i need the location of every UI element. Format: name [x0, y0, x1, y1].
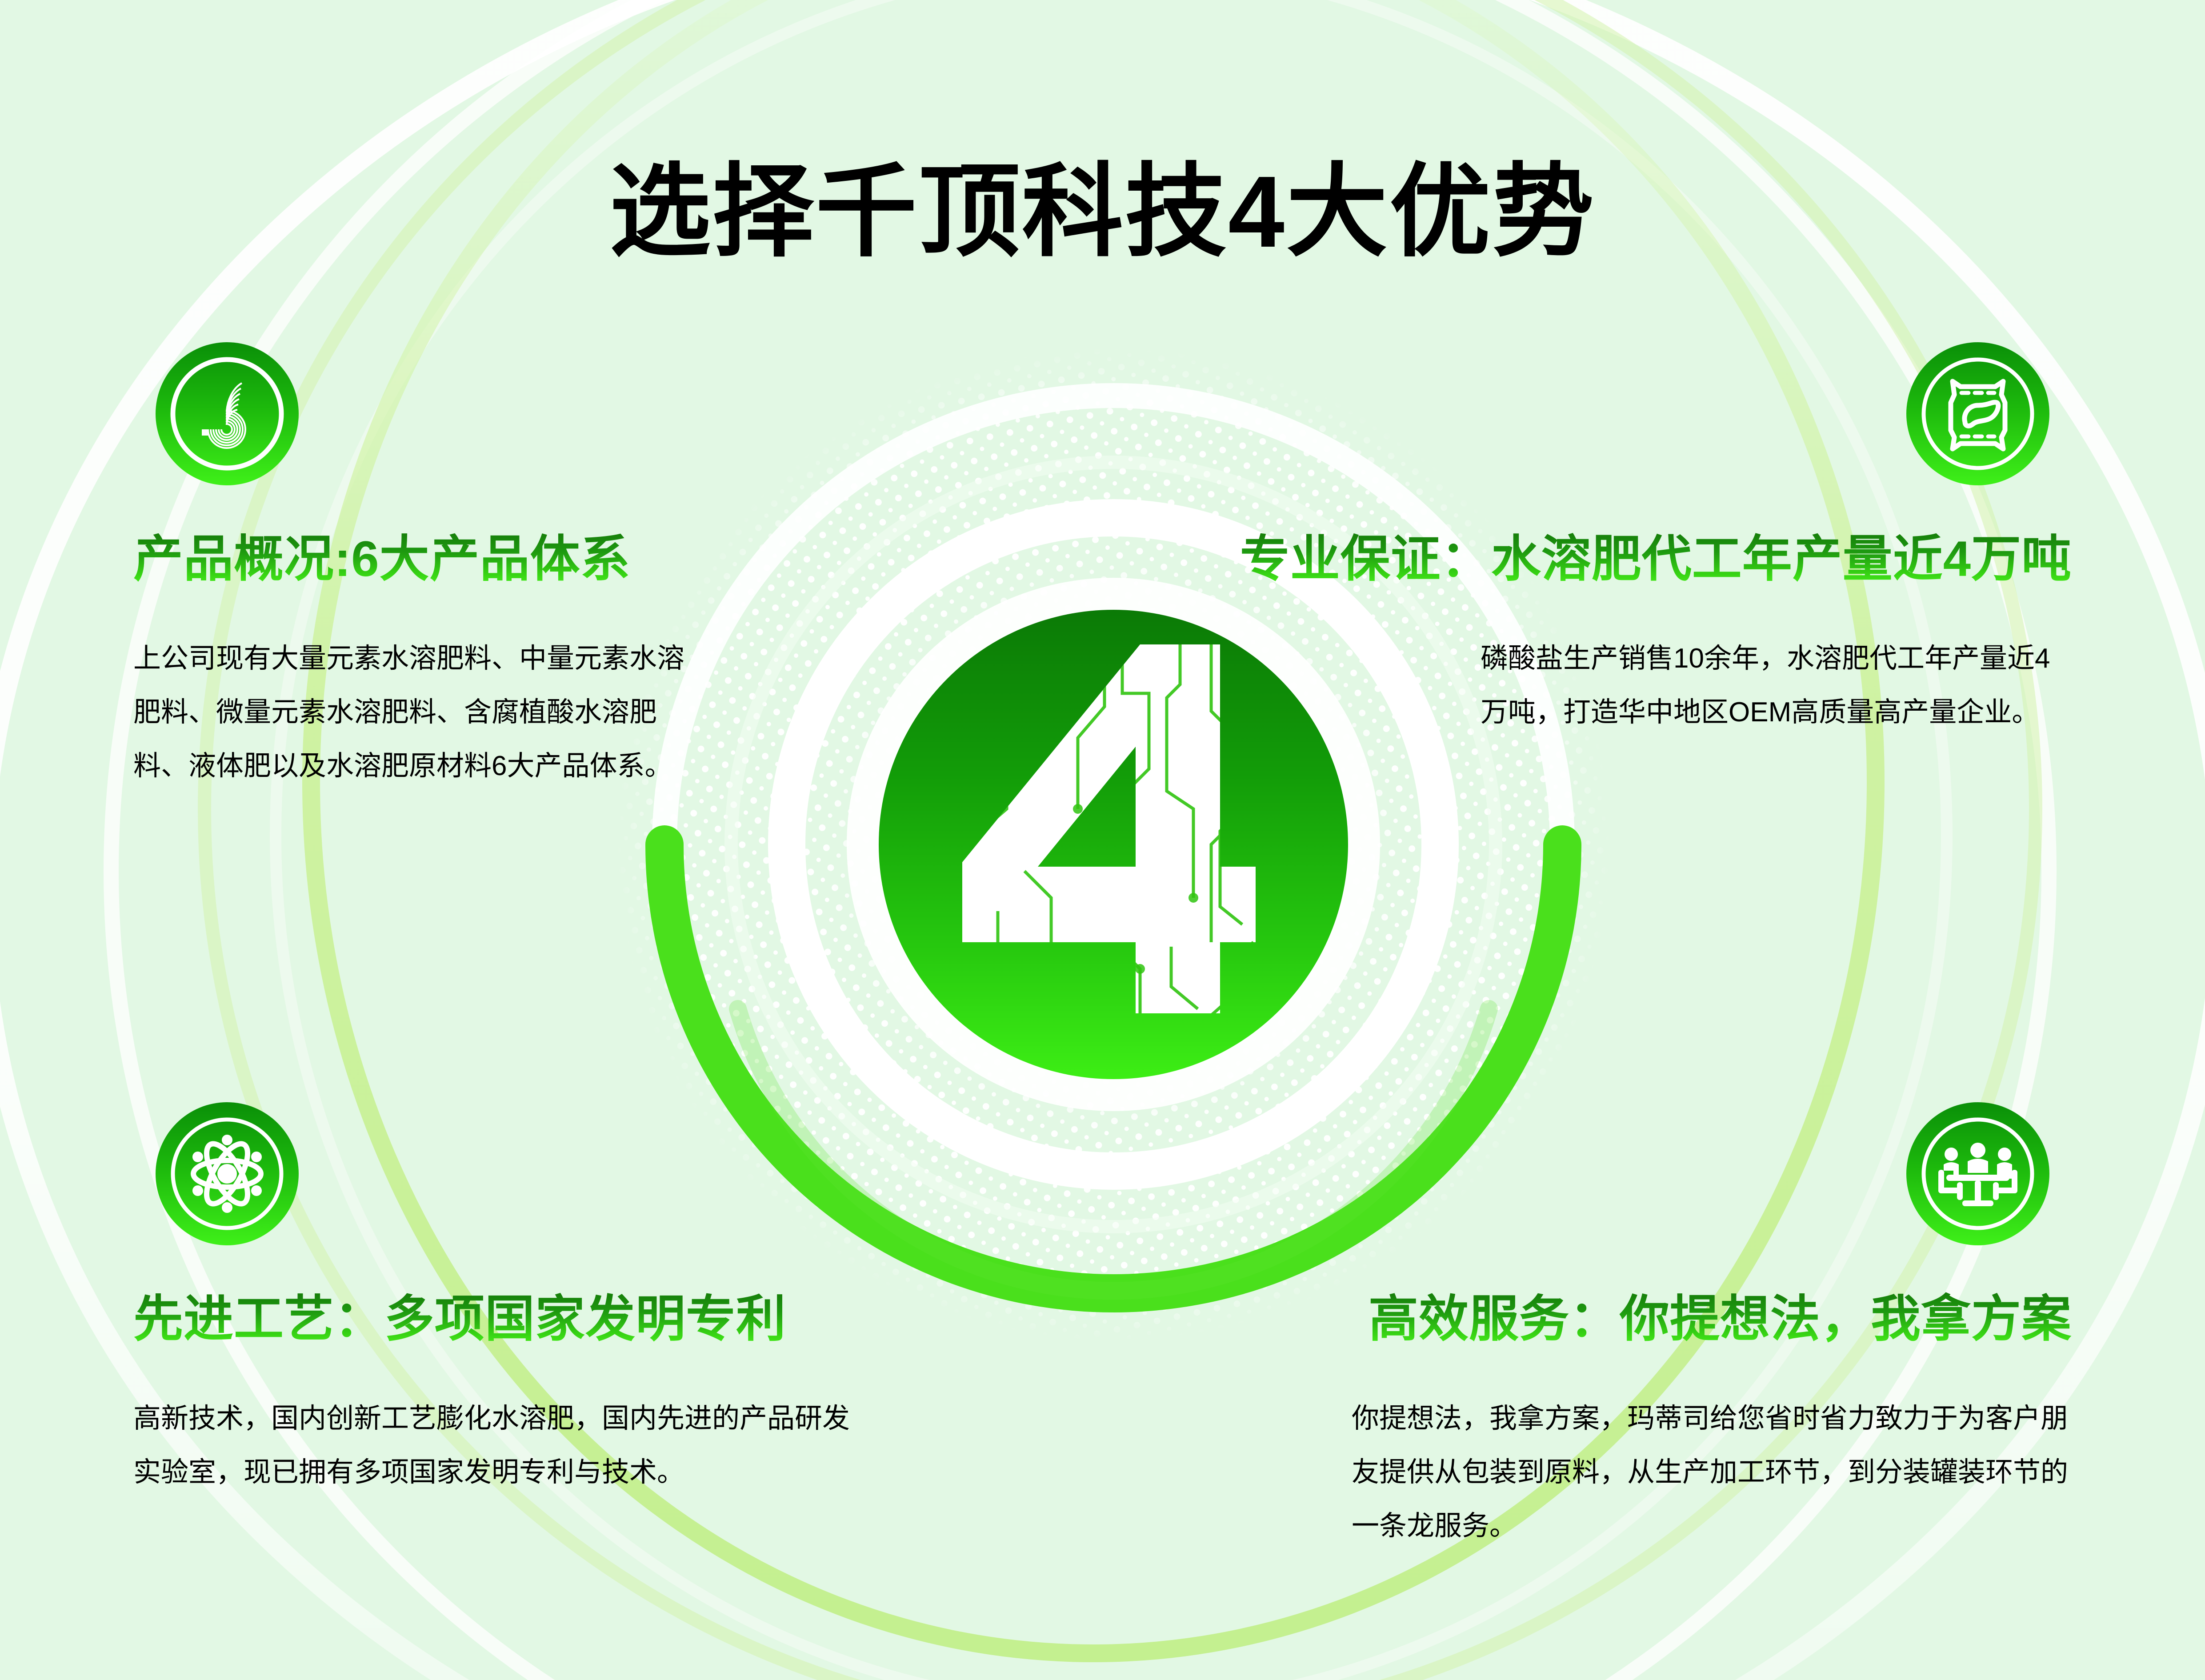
seed-leaf-glyph	[1965, 402, 1998, 426]
meeting-table-icon	[1906, 1102, 2049, 1245]
meeting-figures	[1938, 1143, 2017, 1206]
atom-nucleus	[217, 1164, 237, 1184]
center-medallion	[829, 560, 1398, 1129]
quadrant-body-text: 你提想法，我拿方案，玛蒂司给您省时省力致力于为客户朋友提供从包装到原料，从生产加…	[1352, 1392, 2072, 1553]
number-six-badge-icon	[156, 342, 299, 485]
quadrant-body-text: 上公司现有大量元素水溶肥料、中量元素水溶肥料、微量元素水溶肥料、含腐植酸水溶肥料…	[133, 632, 693, 793]
quadrant-body-text: 磷酸盐生产销售10余年，水溶肥代工年产量近4万吨，打造华中地区OEM高质量高产量…	[1481, 632, 2072, 740]
quadrant-heading: 高效服务：你提想法，我拿方案	[1369, 1291, 2072, 1347]
fertilizer-bag-icon	[1906, 342, 2049, 485]
quadrant-heading: 先进工艺：多项国家发明专利	[133, 1291, 786, 1347]
atom-glyph	[156, 1102, 299, 1245]
infographic-canvas: 选择千顶科技4大优势	[0, 0, 2205, 1680]
quadrant-body-text: 高新技术，国内创新工艺膨化水溶肥，国内先进的产品研发实验室，现已拥有多项国家发明…	[133, 1392, 871, 1500]
quadrant-heading: 专业保证：水溶肥代工年产量近4万吨	[1240, 531, 2072, 587]
atom-icon	[156, 1102, 299, 1245]
six-spiral-icon	[156, 342, 299, 485]
fertilizer-bag-glyph	[1906, 342, 2049, 485]
center-medallion-svg	[829, 560, 1398, 1129]
page-title: 选择千顶科技4大优势	[0, 159, 2205, 265]
meeting-table-glyph	[1906, 1102, 2049, 1245]
quadrant-heading: 产品概况:6大产品体系	[133, 531, 631, 587]
